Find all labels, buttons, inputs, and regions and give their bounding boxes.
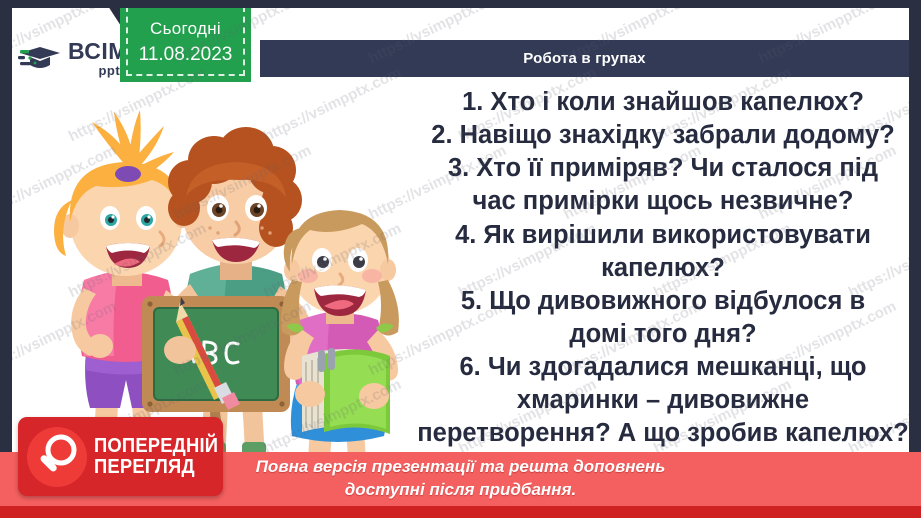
question-line: домі того дня? <box>416 318 909 351</box>
question-line-obscured: перетворення? А що зробив капелюх? <box>416 417 909 450</box>
preview-badge[interactable]: ПОПЕРЕДНІЙ ПЕРЕГЛЯД <box>18 417 223 496</box>
logo-suffix: pptx <box>68 64 128 77</box>
question-list: 1. Хто і коли знайшов капелюх? 2. Навіщо… <box>416 86 909 451</box>
question-line: 1. Хто і коли знайшов капелюх? <box>416 86 909 119</box>
question-line: 2. Навіщо знахідку забрали додому? <box>416 119 909 152</box>
today-date-badge: Сьогодні 11.08.2023 <box>120 8 251 82</box>
question-line: хмаринки – дивовижне <box>416 384 909 417</box>
question-line: 3. Хто її приміряв? Чи сталося під <box>416 152 909 185</box>
question-line: 6. Чи здогадалися мешканці, що <box>416 351 909 384</box>
character-girl-braids <box>281 210 399 492</box>
question-line: 4. Як вирішили використовувати <box>416 219 909 252</box>
preview-badge-line2: ПЕРЕГЛЯД <box>94 457 218 477</box>
notice-line-2: доступні після придбання. <box>345 479 576 502</box>
slide-header-bar: Робота в групах <box>260 40 909 77</box>
question-line: час примірки щось незвичне? <box>416 185 909 218</box>
graduation-cap-icon <box>18 41 64 75</box>
presentation-slide: ВСІМ pptx Сьогодні 11.08.2023 Робота в г… <box>0 0 921 518</box>
preview-badge-line1: ПОПЕРЕДНІЙ <box>94 436 218 456</box>
question-line: 5. Що дивовижного відбулося в <box>416 285 909 318</box>
notice-line-1: Повна версія презентації та решта доповн… <box>256 456 666 479</box>
logo-name: ВСІМ <box>68 40 128 63</box>
date-badge-value: 11.08.2023 <box>139 44 233 66</box>
notice-bottom-strip <box>0 506 921 518</box>
date-badge-label: Сьогодні <box>150 19 221 39</box>
magnifier-icon <box>27 427 87 487</box>
slide-canvas: ВСІМ pptx Сьогодні 11.08.2023 Робота в г… <box>12 8 909 510</box>
page-title: Робота в групах <box>523 50 645 67</box>
question-line: капелюх? <box>416 252 909 285</box>
